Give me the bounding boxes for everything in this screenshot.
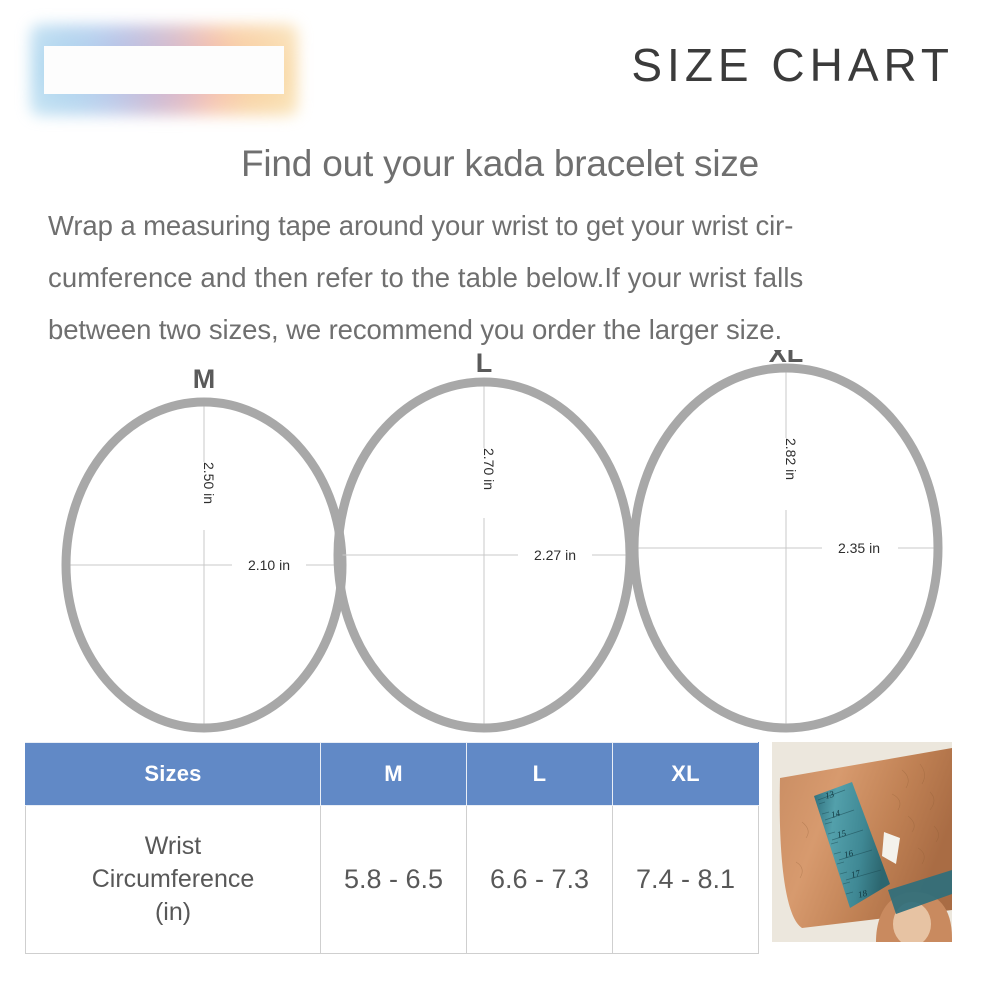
size-chart-page: MESMERIZE SIZE CHART Find out your kada … <box>0 0 1000 1000</box>
table-header-sizes: Sizes <box>26 743 321 806</box>
m-width-label: 2.10 in <box>248 557 290 573</box>
l-width-label: 2.27 in <box>534 547 576 563</box>
size-table: Sizes M L XL Wrist Circumference (in) 5.… <box>25 742 759 954</box>
table-header-l: L <box>467 743 613 806</box>
row-label-wrist-circumference: Wrist Circumference (in) <box>26 806 321 954</box>
brand-logo: MESMERIZE <box>44 38 284 102</box>
oval-diagram-xl: XL 2.82 in 2.35 in <box>632 350 942 728</box>
oval-diagram-group: M 2.50 in 2.10 in L 2.70 in 2.27 in <box>0 350 1000 745</box>
cell-m-value: 5.8 - 6.5 <box>321 806 467 954</box>
oval-diagram-l: L 2.70 in 2.27 in <box>338 350 638 728</box>
table-header-xl: XL <box>613 743 759 806</box>
subtitle: Find out your kada bracelet size <box>0 143 1000 185</box>
logo-wordmark: MESMERIZE <box>69 56 258 85</box>
row-label-line-3: (in) <box>27 896 319 929</box>
page-title: SIZE CHART <box>631 42 954 88</box>
table-row: Wrist Circumference (in) 5.8 - 6.5 6.6 -… <box>26 806 759 954</box>
size-table-wrapper: Sizes M L XL Wrist Circumference (in) 5.… <box>25 742 758 954</box>
logo-box: MESMERIZE <box>44 46 284 94</box>
cell-l-value: 6.6 - 7.3 <box>467 806 613 954</box>
m-size-label: M <box>193 364 216 394</box>
l-size-label: L <box>476 350 493 378</box>
instructions-line-1: Wrap a measuring tape around your wrist … <box>48 200 954 252</box>
xl-width-label: 2.35 in <box>838 540 880 556</box>
row-label-line-1: Wrist <box>27 830 319 863</box>
cell-xl-value: 7.4 - 8.1 <box>613 806 759 954</box>
row-label-line-2: Circumference <box>27 863 319 896</box>
m-height-label: 2.50 in <box>201 462 217 504</box>
l-height-label: 2.70 in <box>481 448 497 490</box>
table-header-row: Sizes M L XL <box>26 743 759 806</box>
xl-height-label: 2.82 in <box>783 438 799 480</box>
instructions-paragraph: Wrap a measuring tape around your wrist … <box>48 200 954 356</box>
wrist-measurement-photo: 13 14 15 16 17 18 <box>772 742 952 942</box>
instructions-line-2: cumference and then refer to the table b… <box>48 252 954 304</box>
table-header-m: M <box>321 743 467 806</box>
xl-size-label: XL <box>769 350 804 368</box>
oval-diagram-m: M 2.50 in 2.10 in <box>62 364 345 728</box>
instructions-line-3: between two sizes, we recommend you orde… <box>48 304 954 356</box>
